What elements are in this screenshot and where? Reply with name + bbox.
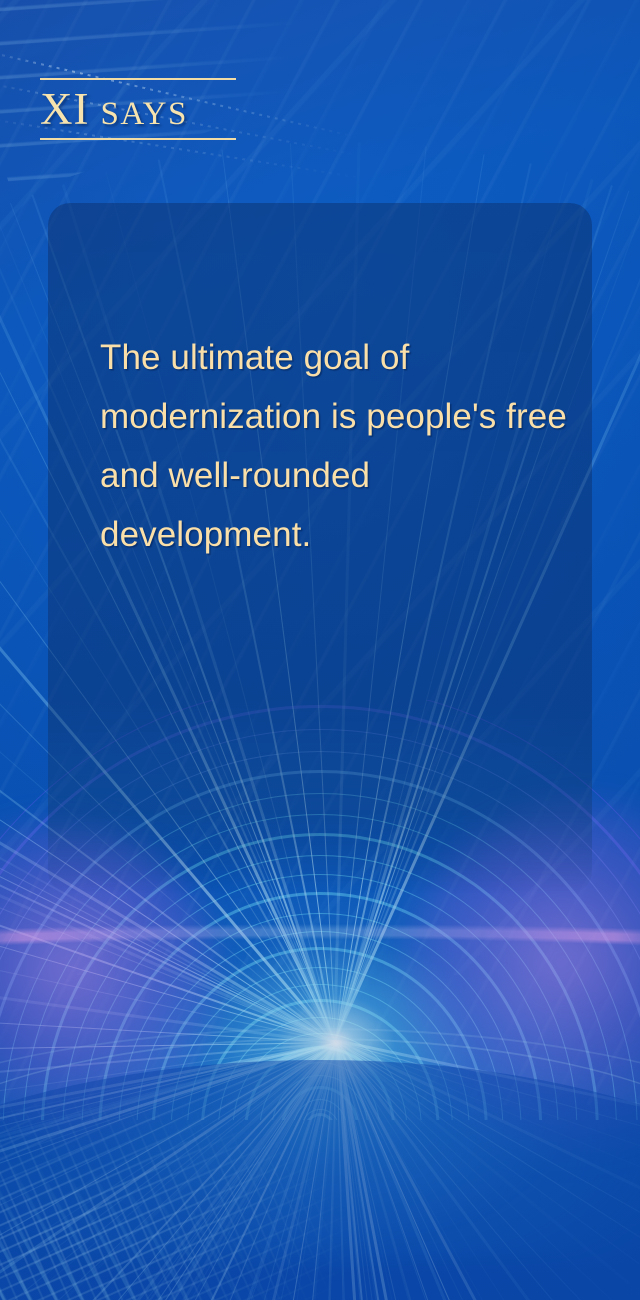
background-bottomleft-fan [0,1060,360,1300]
brand-logo: XISAYS [40,78,236,140]
poster-root: XISAYS The ultimate goal of modernizatio… [0,0,640,1300]
quote-text: The ultimate goal of modernization is pe… [100,328,570,564]
brand-logo-primary: XI [40,84,89,134]
brand-logo-secondary: SAYS [100,96,187,132]
